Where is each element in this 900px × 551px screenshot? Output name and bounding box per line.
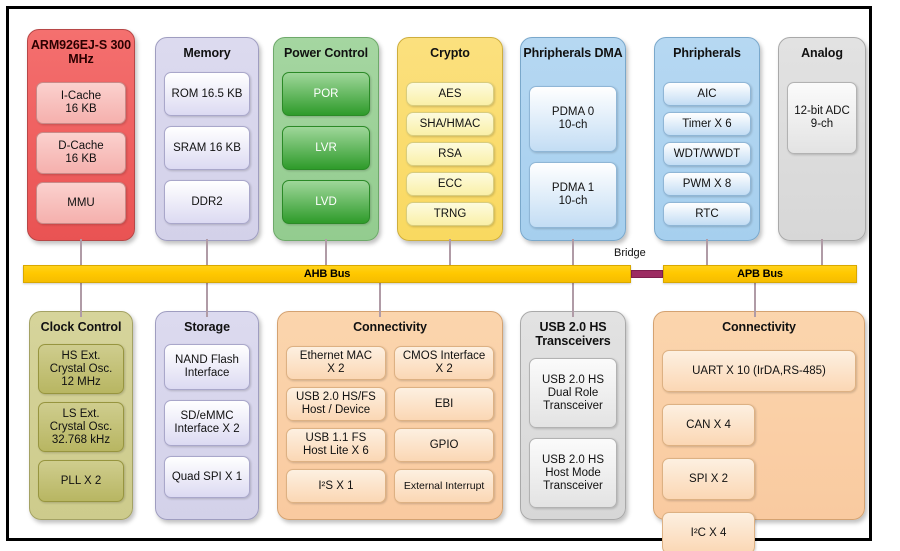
item-cmos-interface[interactable]: CMOS Interface X 2 bbox=[394, 346, 494, 380]
item-hs-osc[interactable]: HS Ext. Crystal Osc. 12 MHz bbox=[38, 344, 124, 394]
item-aic[interactable]: AIC bbox=[663, 82, 751, 106]
bridge-label: Bridge bbox=[614, 247, 646, 259]
item-ebi[interactable]: EBI bbox=[394, 387, 494, 421]
block-power-control-title: Power Control bbox=[274, 38, 378, 60]
block-cpu-title: ARM926EJ-S 300 MHz bbox=[28, 30, 134, 66]
block-peripherals-title: Phripherals bbox=[655, 38, 759, 60]
item-mmu[interactable]: MMU bbox=[36, 182, 126, 224]
item-ethernet-mac[interactable]: Ethernet MAC X 2 bbox=[286, 346, 386, 380]
block-peripherals-children: AIC Timer X 6 WDT/WWDT PWM X 8 RTC bbox=[663, 82, 751, 232]
item-usb-dual-role[interactable]: USB 2.0 HS Dual Role Transceiver bbox=[529, 358, 617, 428]
item-pll[interactable]: PLL X 2 bbox=[38, 460, 124, 502]
block-peripherals[interactable]: Phripherals AIC Timer X 6 WDT/WWDT PWM X… bbox=[654, 37, 760, 241]
item-usb11-fs[interactable]: USB 1.1 FS Host Lite X 6 bbox=[286, 428, 386, 462]
item-uart[interactable]: UART X 10 (IrDA,RS-485) bbox=[662, 350, 856, 392]
block-storage[interactable]: Storage NAND Flash Interface SD/eMMC Int… bbox=[155, 311, 259, 520]
block-peripherals-dma[interactable]: Phripherals DMA PDMA 0 10-ch PDMA 1 10-c… bbox=[520, 37, 626, 241]
item-quad-spi[interactable]: Quad SPI X 1 bbox=[164, 456, 250, 498]
item-wdt[interactable]: WDT/WWDT bbox=[663, 142, 751, 166]
block-crypto-children: AES SHA/HMAC RSA ECC TRNG bbox=[406, 82, 494, 232]
block-usb-transceivers-children: USB 2.0 HS Dual Role Transceiver USB 2.0… bbox=[529, 358, 617, 511]
item-rom[interactable]: ROM 16.5 KB bbox=[164, 72, 250, 116]
block-peripherals-dma-children: PDMA 0 10-ch PDMA 1 10-ch bbox=[529, 86, 617, 232]
block-memory-title: Memory bbox=[156, 38, 258, 60]
item-por[interactable]: POR bbox=[282, 72, 370, 116]
block-analog[interactable]: Analog 12-bit ADC 9-ch bbox=[778, 37, 866, 241]
block-memory[interactable]: Memory ROM 16.5 KB SRAM 16 KB DDR2 bbox=[155, 37, 259, 241]
block-connectivity-ahb-title: Connectivity bbox=[278, 312, 502, 334]
block-power-control-children: POR LVR LVD bbox=[282, 72, 370, 232]
block-usb-transceivers[interactable]: USB 2.0 HS Transceivers USB 2.0 HS Dual … bbox=[520, 311, 626, 520]
item-gpio[interactable]: GPIO bbox=[394, 428, 494, 462]
block-crypto-title: Crypto bbox=[398, 38, 502, 60]
item-usb20-hsfs[interactable]: USB 2.0 HS/FS Host / Device bbox=[286, 387, 386, 421]
block-connectivity-apb-title: Connectivity bbox=[654, 312, 864, 334]
ahb-bus[interactable]: AHB Bus bbox=[23, 265, 631, 283]
block-memory-children: ROM 16.5 KB SRAM 16 KB DDR2 bbox=[164, 72, 250, 232]
item-d-cache[interactable]: D-Cache 16 KB bbox=[36, 132, 126, 174]
item-i2c[interactable]: I²C X 4 bbox=[662, 512, 755, 551]
block-analog-children: 12-bit ADC 9-ch bbox=[787, 82, 857, 154]
item-external-interrupt[interactable]: External Interrupt bbox=[394, 469, 494, 503]
item-rsa[interactable]: RSA bbox=[406, 142, 494, 166]
block-connectivity-apb[interactable]: Connectivity UART X 10 (IrDA,RS-485) CAN… bbox=[653, 311, 865, 520]
item-spi[interactable]: SPI X 2 bbox=[662, 458, 755, 500]
apb-bus[interactable]: APB Bus bbox=[663, 265, 857, 283]
item-pdma0[interactable]: PDMA 0 10-ch bbox=[529, 86, 617, 152]
item-i-cache[interactable]: I-Cache 16 KB bbox=[36, 82, 126, 124]
block-analog-title: Analog bbox=[779, 38, 865, 60]
item-sram[interactable]: SRAM 16 KB bbox=[164, 126, 250, 170]
block-usb-transceivers-title: USB 2.0 HS Transceivers bbox=[521, 312, 625, 348]
item-lvd[interactable]: LVD bbox=[282, 180, 370, 224]
item-ddr2[interactable]: DDR2 bbox=[164, 180, 250, 224]
block-peripherals-dma-title: Phripherals DMA bbox=[521, 38, 625, 60]
item-rtc[interactable]: RTC bbox=[663, 202, 751, 226]
apb-bus-label: APB Bus bbox=[737, 268, 783, 280]
item-pwm[interactable]: PWM X 8 bbox=[663, 172, 751, 196]
block-cpu-children: I-Cache 16 KB D-Cache 16 KB MMU bbox=[36, 82, 126, 232]
block-connectivity-ahb-children: Ethernet MAC X 2 CMOS Interface X 2 USB … bbox=[286, 346, 494, 511]
block-cpu[interactable]: ARM926EJ-S 300 MHz I-Cache 16 KB D-Cache… bbox=[27, 29, 135, 241]
item-aes[interactable]: AES bbox=[406, 82, 494, 106]
item-ls-osc[interactable]: LS Ext. Crystal Osc. 32.768 kHz bbox=[38, 402, 124, 452]
item-can[interactable]: CAN X 4 bbox=[662, 404, 755, 446]
item-i2s[interactable]: I²S X 1 bbox=[286, 469, 386, 503]
block-connectivity-apb-children: UART X 10 (IrDA,RS-485) CAN X 4 SPI X 2 … bbox=[662, 350, 856, 511]
block-connectivity-ahb[interactable]: Connectivity Ethernet MAC X 2 CMOS Inter… bbox=[277, 311, 503, 520]
block-power-control[interactable]: Power Control POR LVR LVD bbox=[273, 37, 379, 241]
block-clock-control[interactable]: Clock Control HS Ext. Crystal Osc. 12 MH… bbox=[29, 311, 133, 520]
bridge-connector[interactable] bbox=[631, 270, 663, 278]
block-clock-control-children: HS Ext. Crystal Osc. 12 MHz LS Ext. Crys… bbox=[38, 344, 124, 511]
item-lvr[interactable]: LVR bbox=[282, 126, 370, 170]
item-sha-hmac[interactable]: SHA/HMAC bbox=[406, 112, 494, 136]
item-adc[interactable]: 12-bit ADC 9-ch bbox=[787, 82, 857, 154]
diagram-canvas: ARM926EJ-S 300 MHz I-Cache 16 KB D-Cache… bbox=[0, 0, 900, 551]
item-trng[interactable]: TRNG bbox=[406, 202, 494, 226]
ahb-bus-label: AHB Bus bbox=[304, 268, 350, 280]
item-timer[interactable]: Timer X 6 bbox=[663, 112, 751, 136]
block-crypto[interactable]: Crypto AES SHA/HMAC RSA ECC TRNG bbox=[397, 37, 503, 241]
diagram-frame: ARM926EJ-S 300 MHz I-Cache 16 KB D-Cache… bbox=[6, 6, 872, 541]
item-sd-emmc[interactable]: SD/eMMC Interface X 2 bbox=[164, 400, 250, 446]
block-storage-children: NAND Flash Interface SD/eMMC Interface X… bbox=[164, 344, 250, 511]
item-ecc[interactable]: ECC bbox=[406, 172, 494, 196]
item-usb-host-mode[interactable]: USB 2.0 HS Host Mode Transceiver bbox=[529, 438, 617, 508]
item-nand[interactable]: NAND Flash Interface bbox=[164, 344, 250, 390]
item-pdma1[interactable]: PDMA 1 10-ch bbox=[529, 162, 617, 228]
